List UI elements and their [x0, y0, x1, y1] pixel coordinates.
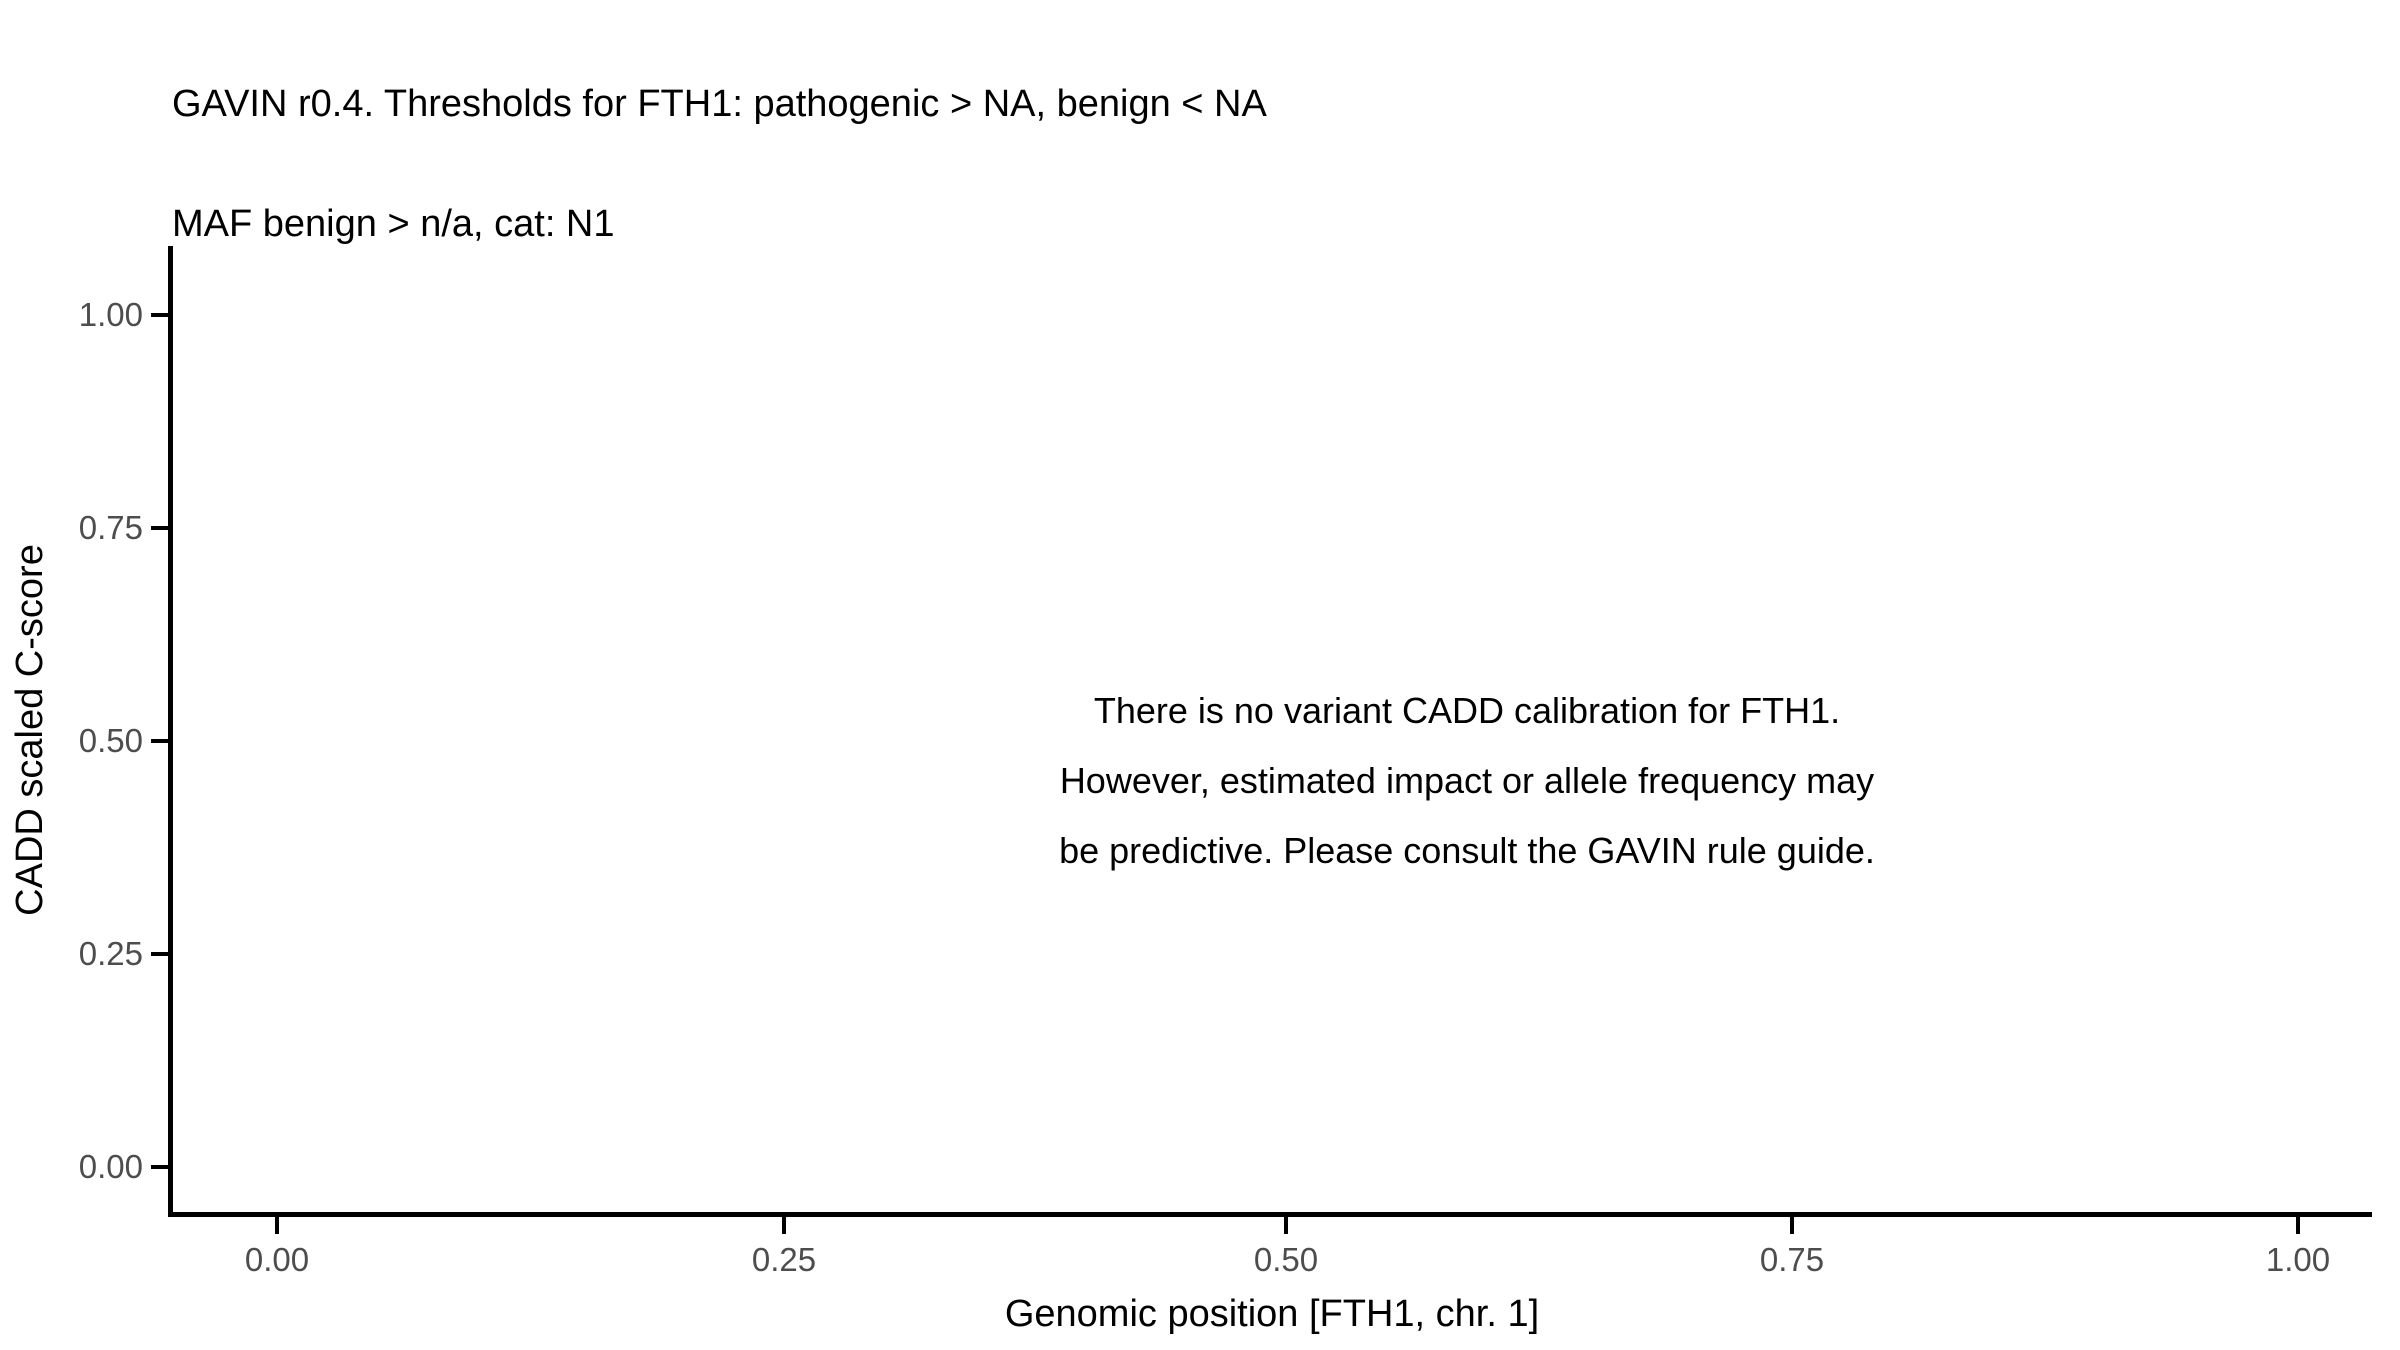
y-axis-tick — [151, 313, 168, 317]
x-axis-tick — [782, 1217, 786, 1234]
y-axis-tick — [151, 526, 168, 530]
y-axis-line — [168, 246, 173, 1217]
x-axis-ticklabel: 0.50 — [1166, 1243, 1406, 1276]
x-axis-tick — [1790, 1217, 1794, 1234]
panel-annotation: There is no variant CADD calibration for… — [772, 676, 2162, 886]
x-axis-line — [168, 1212, 2372, 1217]
annotation-line-3: be predictive. Please consult the GAVIN … — [772, 816, 2162, 886]
x-axis-ticklabel: 1.00 — [2178, 1243, 2400, 1276]
y-axis-tick — [151, 952, 168, 956]
y-axis-title-text: CADD scaled C-score — [11, 544, 49, 916]
y-axis-title: CADD scaled C-score — [0, 246, 60, 1213]
x-axis-tick — [2296, 1217, 2300, 1234]
x-axis-tick — [1284, 1217, 1288, 1234]
plot-panel: There is no variant CADD calibration for… — [172, 246, 2372, 1213]
y-axis-tick — [151, 1165, 168, 1169]
title-line-1: GAVIN r0.4. Thresholds for FTH1: pathoge… — [172, 84, 2272, 124]
annotation-line-2: However, estimated impact or allele freq… — [772, 746, 2162, 816]
x-axis-ticklabel: 0.25 — [664, 1243, 904, 1276]
x-axis-ticklabel: 0.75 — [1672, 1243, 1912, 1276]
chart-figure: GAVIN r0.4. Thresholds for FTH1: pathoge… — [0, 0, 2400, 1350]
annotation-line-1: There is no variant CADD calibration for… — [772, 676, 2162, 746]
y-axis-tick — [151, 739, 168, 743]
x-axis-ticklabel: 0.00 — [157, 1243, 397, 1276]
x-axis-title: Genomic position [FTH1, chr. 1] — [172, 1295, 2372, 1333]
x-axis-tick — [275, 1217, 279, 1234]
title-line-2: MAF benign > n/a, cat: N1 — [172, 204, 2272, 244]
